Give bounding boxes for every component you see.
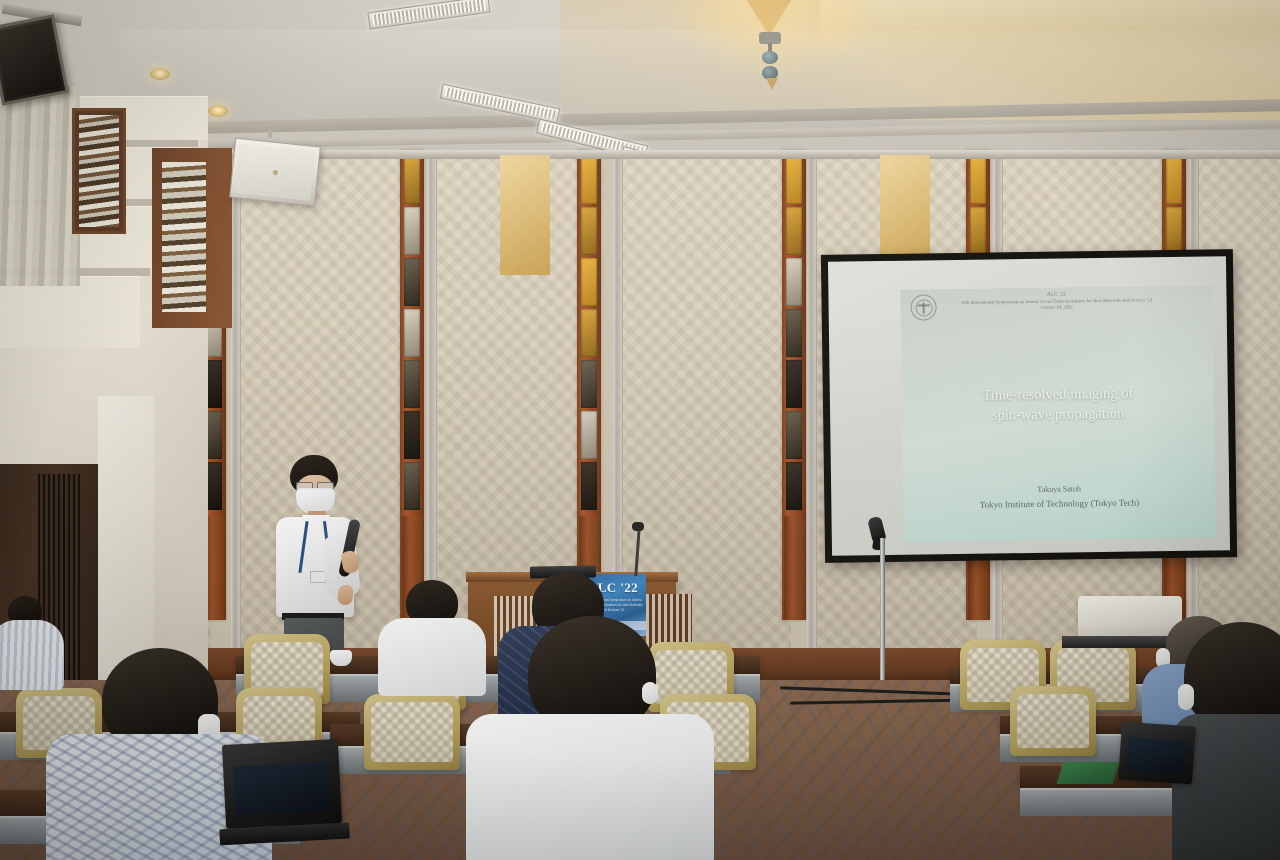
slide-header: ALC '22 14th International Symposium on … (900, 285, 1213, 333)
green-document-folder (1056, 762, 1119, 784)
wood-trim-strip (782, 150, 806, 620)
decorative-wood-grille (72, 108, 126, 234)
attendee-white-shirt-front (466, 616, 716, 860)
slide-title: Time-resolved imaging of spin-wave propa… (902, 383, 1215, 426)
glass-pane-column (404, 156, 420, 510)
window-curtain (0, 86, 80, 286)
projection-screen: ALC '22 14th International Symposium on … (821, 249, 1237, 563)
wood-trim-base (784, 516, 804, 620)
laptop-screen (1125, 737, 1188, 775)
pendant-shade (743, 0, 795, 36)
banquet-chair (364, 694, 460, 770)
open-laptop (1118, 721, 1196, 784)
podium-microphone-head (632, 522, 644, 531)
slide-affiliation: Tokyo Institute of Technology (Tokyo Tec… (903, 494, 1215, 513)
glass-pane-column (786, 156, 802, 510)
name-badge (310, 571, 326, 583)
wall-mounted-loudspeaker (229, 138, 321, 207)
recessed-linear-ceiling-lights (367, 0, 490, 29)
conference-room-photo: ALC '22 14th International Symposium on … (0, 0, 1280, 860)
screen-surface: ALC '22 14th International Symposium on … (828, 256, 1230, 556)
banquet-chair (1010, 686, 1096, 756)
water-glass (330, 650, 352, 666)
face-mask-icon (1178, 684, 1194, 710)
face-mask-icon (642, 682, 658, 704)
monitor-screen (0, 21, 62, 98)
presentation-slide: ALC '22 14th International Symposium on … (900, 285, 1215, 541)
laptop-screen (233, 761, 331, 815)
ceiling-spot-light (208, 105, 228, 117)
attendee-torso (466, 714, 714, 860)
slide-title-line2: spin-wave propagation (902, 403, 1214, 427)
ceiling-spot-light (150, 68, 170, 80)
wall-top-rail (152, 150, 1280, 159)
glass-pane-column (581, 156, 597, 510)
far-doorway (152, 148, 232, 328)
open-laptop (222, 739, 342, 829)
pendant-bead-upper (762, 51, 778, 64)
wood-trim-strip (400, 150, 424, 620)
pendant-finial (766, 78, 778, 90)
slide-author-block: Takuya Satoh Tokyo Institute of Technolo… (903, 481, 1215, 513)
wall-mullion (231, 150, 240, 710)
wall-mullion (807, 150, 816, 710)
upper-glass-band (500, 155, 550, 275)
decorative-pendant-lamp (735, 0, 805, 74)
wood-trim-strip (577, 150, 601, 620)
left-wall-panel (0, 276, 140, 348)
